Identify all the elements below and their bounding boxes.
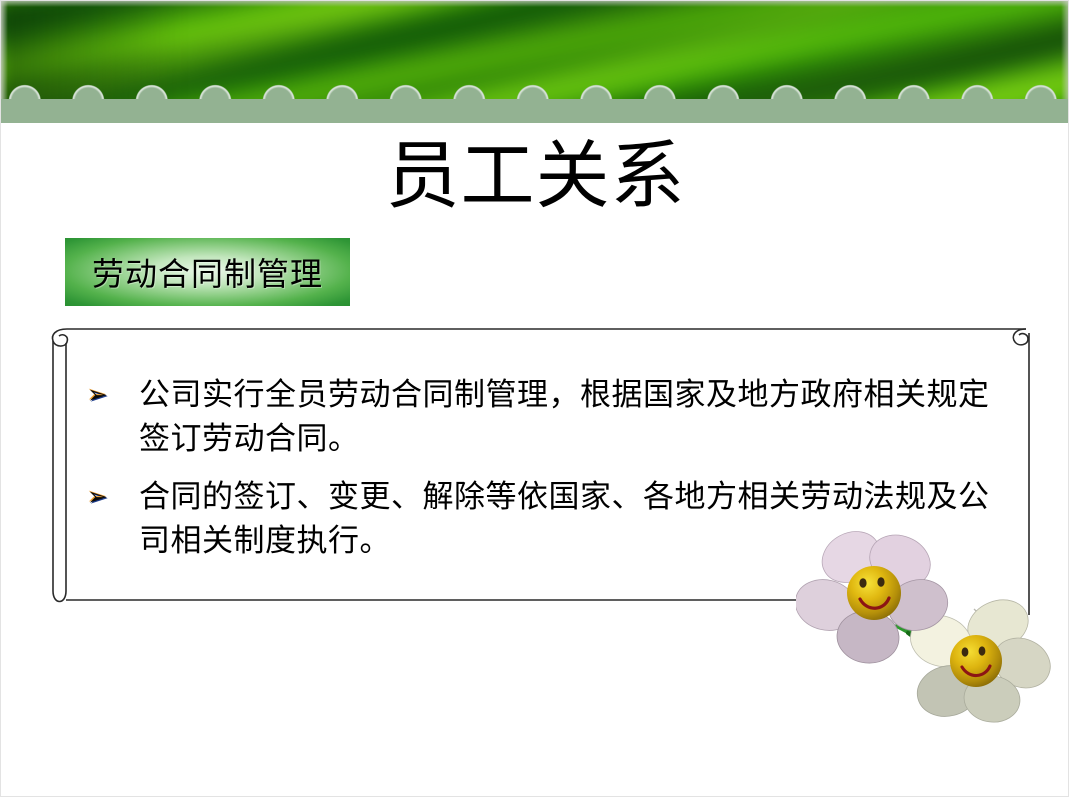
- arrow-bullet-icon: ➢: [87, 475, 139, 519]
- page-title: 员工关系: [1, 133, 1069, 219]
- section-label-chip: 劳动合同制管理: [65, 238, 350, 306]
- arrow-bullet-icon: ➢: [87, 373, 139, 417]
- list-item: ➢ 公司实行全员劳动合同制管理，根据国家及地方政府相关规定签订劳动合同。: [87, 373, 997, 461]
- grass-banner: [1, 1, 1069, 123]
- scallop-base-band: [1, 99, 1069, 123]
- smiley-flowers-decoration: [796, 521, 1061, 746]
- section-label-text: 劳动合同制管理: [65, 238, 350, 306]
- list-item-text: 公司实行全员劳动合同制管理，根据国家及地方政府相关规定签订劳动合同。: [139, 373, 997, 461]
- presentation-slide: 员工关系 劳动合同制管理 ➢ 公司实行全员劳动合同制管理，根据国家及地方政: [0, 0, 1069, 797]
- scalloped-edge-icon: [1, 85, 1069, 123]
